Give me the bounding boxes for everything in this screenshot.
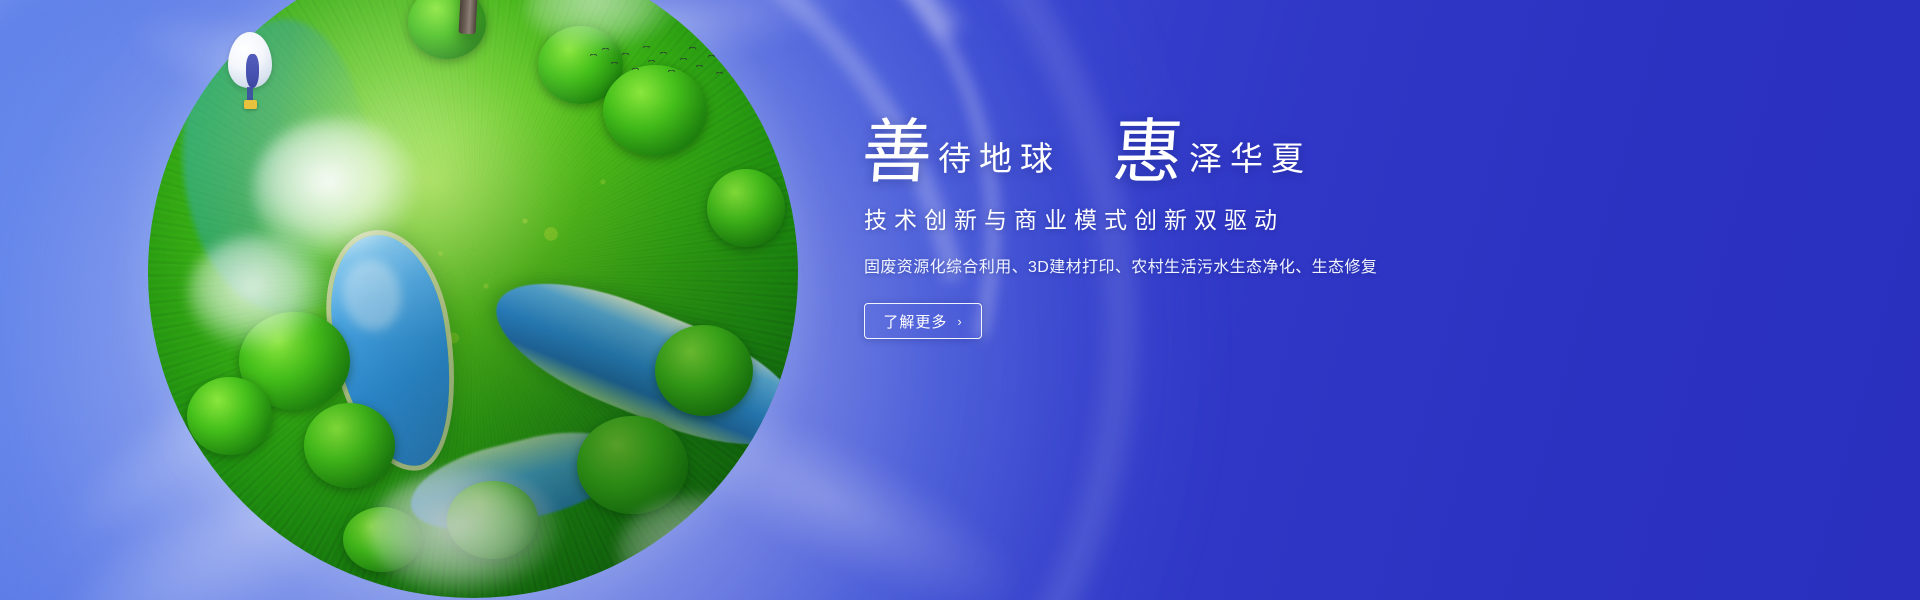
- bird-flock-icon: [588, 44, 728, 90]
- learn-more-label: 了解更多: [883, 311, 947, 332]
- bird-icon: [602, 48, 609, 52]
- description: 固废资源化综合利用、3D建材打印、农村生活污水生态净化、生态修复: [864, 253, 1482, 277]
- bird-icon: [708, 55, 715, 59]
- bird-icon: [643, 46, 650, 50]
- bird-icon: [611, 62, 618, 66]
- bird-icon: [716, 72, 723, 76]
- headline-big-char-2: 惠: [1111, 120, 1186, 187]
- headline-phrase-1: 善 待地球: [862, 120, 1061, 187]
- hero-banner: 善 待地球 惠 泽华夏 技术创新与商业模式创新双驱动 固废资源化综合利用、3D建…: [0, 0, 1920, 600]
- bird-icon: [689, 47, 696, 51]
- bird-icon: [590, 54, 597, 58]
- bird-icon: [668, 70, 675, 74]
- bird-icon: [696, 65, 703, 69]
- balloon-stripe: [246, 54, 259, 88]
- mist-cloud: [187, 234, 330, 351]
- chevron-right-icon: ›: [957, 314, 962, 329]
- headline: 善 待地球 惠 泽华夏: [862, 120, 1482, 187]
- mist-cloud: [369, 468, 564, 598]
- headline-small-text-2: 泽华夏: [1189, 144, 1312, 187]
- bird-icon: [622, 53, 629, 57]
- bird-icon: [632, 68, 639, 72]
- headline-small-text-1: 待地球: [938, 144, 1061, 187]
- bush: [304, 403, 395, 488]
- bush: [187, 377, 272, 455]
- learn-more-button[interactable]: 了解更多 ›: [864, 303, 982, 339]
- subtitle: 技术创新与商业模式创新双驱动: [864, 201, 1482, 235]
- balloon-neck: [247, 87, 253, 101]
- bird-icon: [660, 52, 667, 56]
- hot-air-balloon-icon: [228, 32, 272, 118]
- bird-icon: [648, 60, 655, 64]
- bird-icon: [680, 58, 687, 62]
- headline-big-char-1: 善: [860, 120, 935, 187]
- hero-content: 善 待地球 惠 泽华夏 技术创新与商业模式创新双驱动 固废资源化综合利用、3D建…: [862, 120, 1482, 339]
- bush: [707, 169, 785, 247]
- headline-phrase-2: 惠 泽华夏: [1113, 120, 1312, 187]
- balloon-basket: [244, 100, 257, 109]
- bush: [655, 325, 753, 416]
